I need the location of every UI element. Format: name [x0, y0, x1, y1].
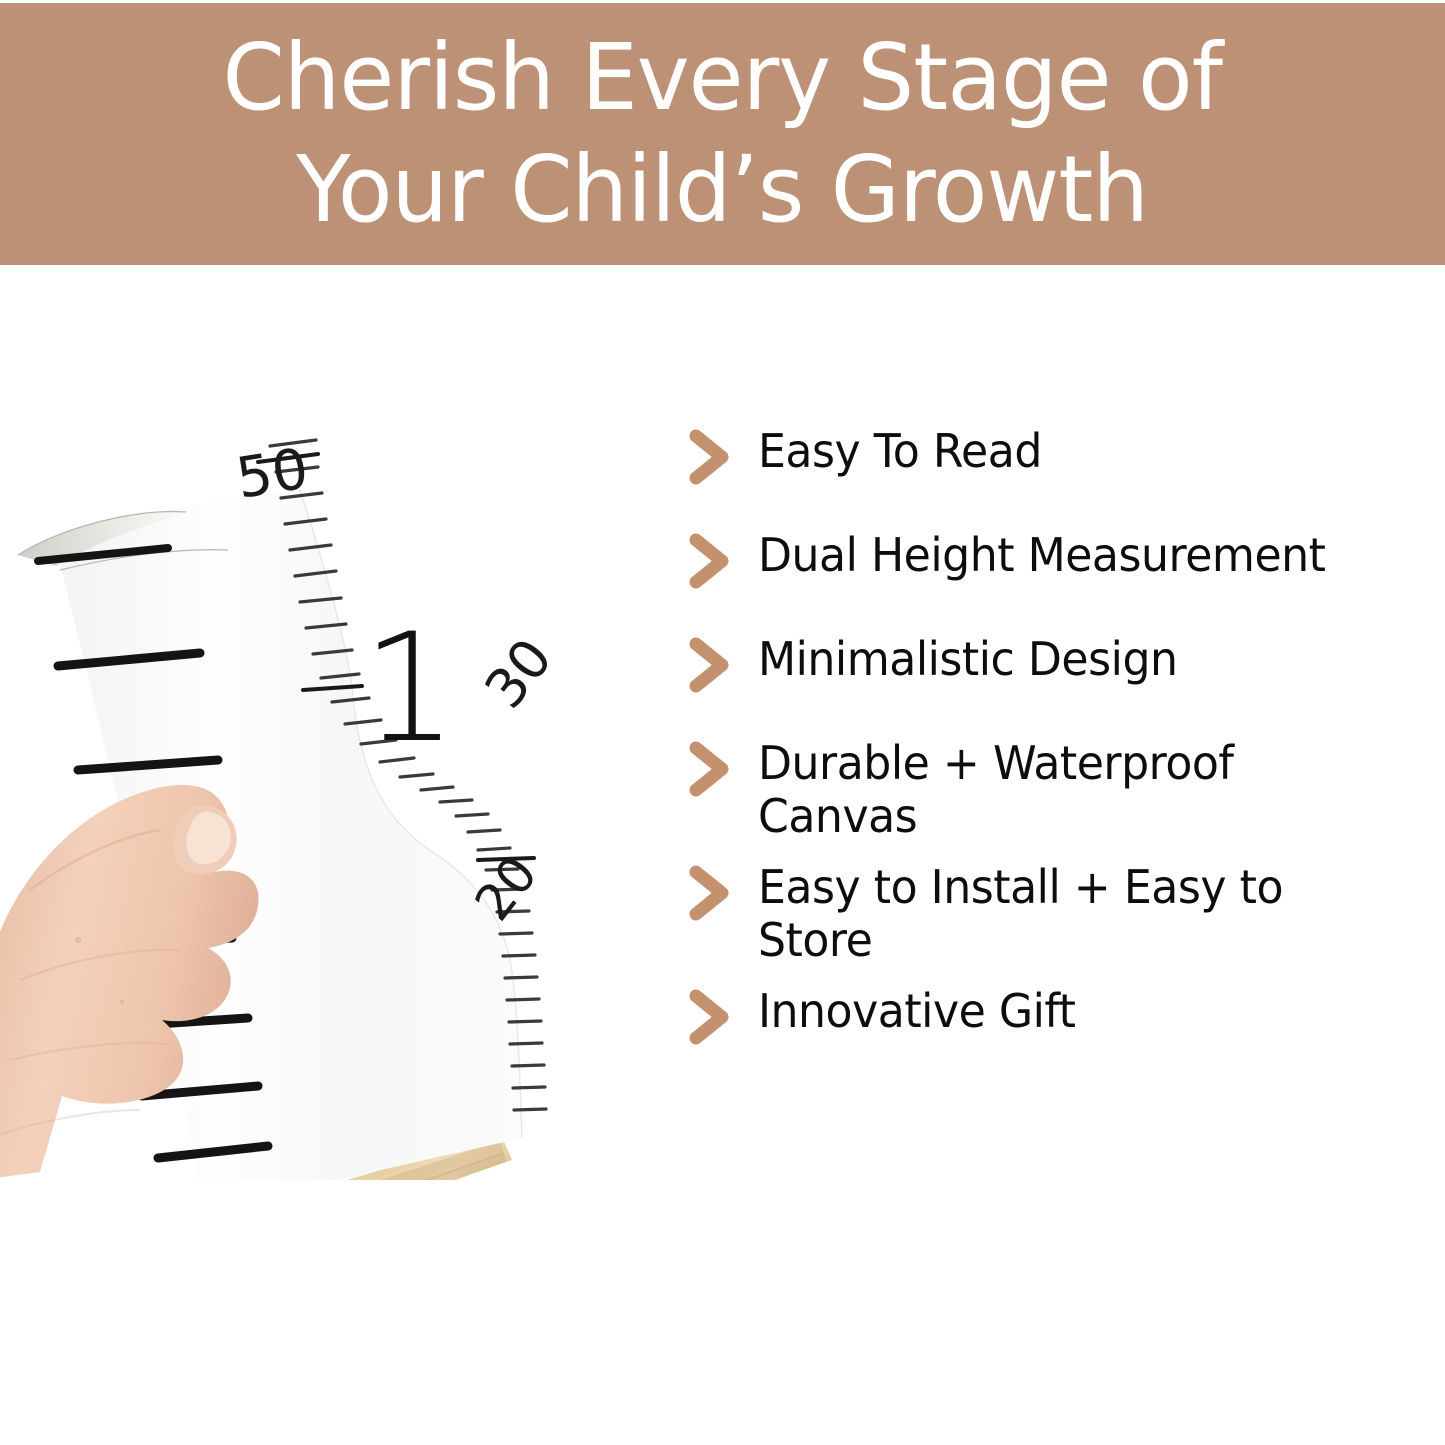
- chevron-right-icon: [688, 741, 732, 797]
- feature-item-dual-height-measurement[interactable]: Dual Height Measurement: [688, 529, 1428, 615]
- feature-label: Dual Height Measurement: [758, 529, 1326, 582]
- ruler-label-1-foot: 1: [362, 602, 457, 776]
- feature-list: Easy To Read Dual Height Measurement Min…: [688, 425, 1428, 1077]
- feature-label: Durable + Waterproof Canvas: [758, 737, 1401, 843]
- feature-item-innovative-gift[interactable]: Innovative Gift: [688, 985, 1428, 1059]
- growth-chart-ruler-illustration: 50 1 30 20: [0, 420, 660, 1180]
- feature-label: Minimalistic Design: [758, 633, 1178, 686]
- ruler-label-30: 30: [473, 627, 565, 720]
- page-title-line-2: Your Child’s Growth: [297, 134, 1149, 246]
- feature-label: Easy To Read: [758, 425, 1042, 478]
- feature-item-easy-to-install-store[interactable]: Easy to Install + Easy to Store: [688, 861, 1428, 967]
- chevron-right-icon: [688, 533, 732, 589]
- photo-stage: 50 1 30 20: [0, 420, 660, 1180]
- feature-label: Easy to Install + Easy to Store: [758, 861, 1401, 967]
- product-photo: 50 1 30 20: [0, 420, 660, 1180]
- page-title-line-1: Cherish Every Stage of: [223, 22, 1223, 134]
- feature-item-easy-to-read[interactable]: Easy To Read: [688, 425, 1428, 511]
- feature-label: Innovative Gift: [758, 985, 1076, 1038]
- feature-item-durable-waterproof-canvas[interactable]: Durable + Waterproof Canvas: [688, 737, 1428, 843]
- ruler-label-50: 50: [232, 436, 313, 511]
- main-content: 50 1 30 20: [0, 265, 1445, 1445]
- feature-item-minimalistic-design[interactable]: Minimalistic Design: [688, 633, 1428, 719]
- chevron-right-icon: [688, 989, 732, 1045]
- chevron-right-icon: [688, 429, 732, 485]
- chevron-right-icon: [688, 865, 732, 921]
- header-banner: Cherish Every Stage of Your Child’s Grow…: [0, 3, 1445, 265]
- chevron-right-icon: [688, 637, 732, 693]
